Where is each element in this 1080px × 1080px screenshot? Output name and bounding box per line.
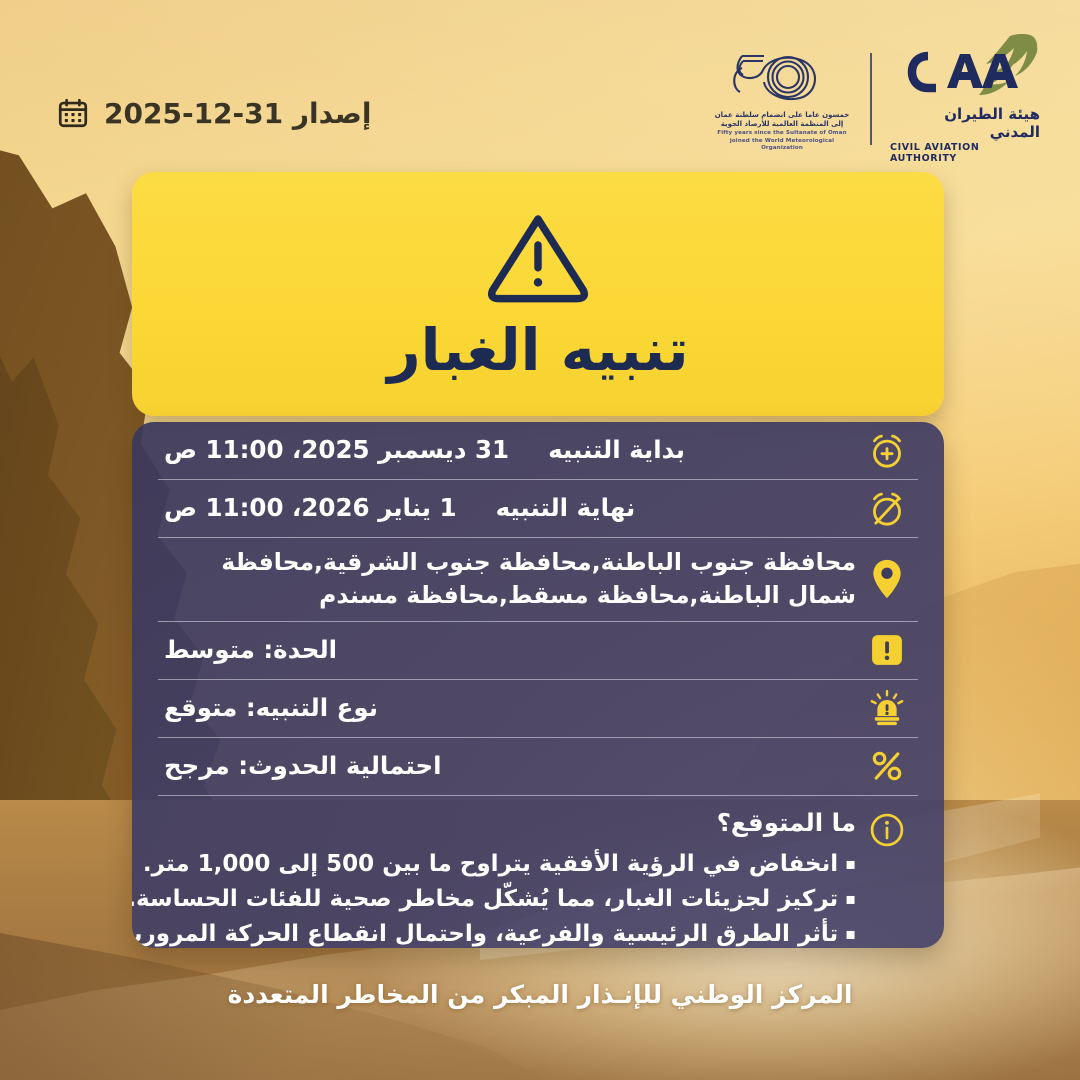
row-alert-type: نوع التنبيه: متوقع bbox=[158, 680, 918, 738]
row-probability: احتمالية الحدوث: مرجح bbox=[158, 738, 918, 796]
alert-details-card: بداية التنبيه 31 ديسمبر 2025، 11:00 ص نه… bbox=[132, 422, 944, 948]
alarm-plus-icon bbox=[856, 431, 918, 471]
exclamation-square-icon bbox=[856, 633, 918, 667]
percent-icon bbox=[856, 748, 918, 784]
footer-organization-name: المركز الوطني للإنـذار المبكر من المخاطر… bbox=[0, 980, 1080, 1009]
row-affected-areas: محافظة جنوب الباطنة,محافظة جنوب الشرقية,… bbox=[158, 538, 918, 622]
logo-group: خمسون عاما على انضمام سلطنة عمان إلى الم… bbox=[712, 34, 1040, 164]
alert-start-value: 31 ديسمبر 2025، 11:00 ص bbox=[164, 435, 509, 464]
caa-arabic-name: هيئة الطيران المدني bbox=[890, 105, 1040, 141]
issue-date-block: إصدار 31-12-2025 bbox=[56, 96, 371, 130]
caa-logo: هيئة الطيران المدني CIVIL AVIATION AUTHO… bbox=[890, 34, 1040, 164]
alert-end-label: نهاية التنبيه bbox=[496, 493, 636, 522]
issue-date-label: إصدار 31-12-2025 bbox=[104, 97, 371, 130]
alarm-off-icon bbox=[856, 489, 918, 529]
list-item: تركيز لجزيئات الغبار، مما يُشكّل مخاطر ص… bbox=[132, 882, 856, 917]
caa-mark-icon bbox=[890, 34, 1040, 104]
alert-start-label: بداية التنبيه bbox=[548, 435, 685, 464]
affected-areas-value: محافظة جنوب الباطنة,محافظة جنوب الشرقية,… bbox=[164, 546, 856, 613]
list-item: انخفاض في الرؤية الأفقية يتراوح ما بين 5… bbox=[132, 847, 856, 882]
wmo-arabic-caption: خمسون عاما على انضمام سلطنة عمان إلى الم… bbox=[715, 111, 850, 129]
warning-triangle-icon bbox=[486, 209, 590, 307]
header: إصدار 31-12-2025 bbox=[0, 0, 1080, 166]
list-item: تأثر الطرق الرئيسية والفرعية، واحتمال ان… bbox=[132, 917, 856, 948]
alert-type-text: نوع التنبيه: متوقع bbox=[164, 692, 378, 724]
siren-icon bbox=[856, 688, 918, 728]
alert-title-banner: تنبيه الغبار bbox=[132, 172, 944, 416]
wmo-50-logo: خمسون عاما على انضمام سلطنة عمان إلى الم… bbox=[712, 46, 852, 152]
alert-start-text: بداية التنبيه 31 ديسمبر 2025، 11:00 ص bbox=[164, 434, 685, 466]
row-alert-end: نهاية التنبيه 1 يناير 2026، 11:00 ص bbox=[158, 480, 918, 538]
row-severity: الحدة: متوسط bbox=[158, 622, 918, 680]
map-pin-icon bbox=[856, 558, 918, 600]
row-alert-start: بداية التنبيه 31 ديسمبر 2025، 11:00 ص bbox=[158, 422, 918, 480]
alert-end-text: نهاية التنبيه 1 يناير 2026، 11:00 ص bbox=[164, 492, 635, 524]
wmo-english-caption: Fifty years since the Sultanate of Oman … bbox=[712, 130, 852, 152]
probability-text: احتمالية الحدوث: مرجح bbox=[164, 750, 442, 782]
fifty-years-mark-icon bbox=[722, 46, 842, 108]
calendar-icon bbox=[56, 96, 90, 130]
logo-divider bbox=[870, 53, 872, 145]
what-to-expect-list: انخفاض في الرؤية الأفقية يتراوح ما بين 5… bbox=[132, 847, 856, 948]
alert-end-value: 1 يناير 2026، 11:00 ص bbox=[164, 493, 457, 522]
alert-title: تنبيه الغبار bbox=[387, 321, 688, 379]
severity-text: الحدة: متوسط bbox=[164, 634, 337, 666]
footer: المركز الوطني للإنـذار المبكر من المخاطر… bbox=[0, 980, 1080, 1009]
row-what-to-expect: ما المتوقع؟ انخفاض في الرؤية الأفقية يتر… bbox=[158, 796, 918, 948]
what-to-expect-title: ما المتوقع؟ bbox=[132, 808, 856, 837]
info-circle-icon bbox=[856, 808, 918, 848]
caa-english-name: CIVIL AVIATION AUTHORITY bbox=[890, 142, 1040, 164]
